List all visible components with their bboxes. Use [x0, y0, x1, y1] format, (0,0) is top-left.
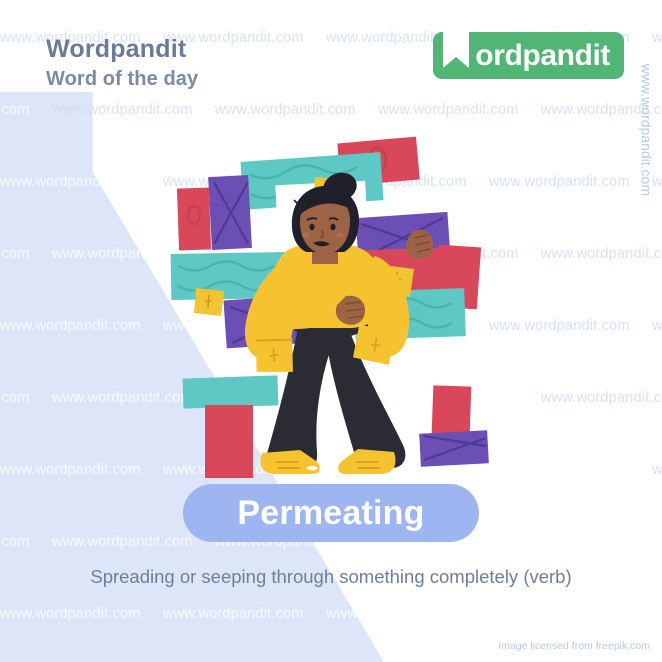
word-definition: Spreading or seeping through something c…	[0, 566, 662, 588]
image-credit: Image licensed from freepik.com	[498, 640, 650, 652]
bookmark-w-icon	[443, 26, 469, 68]
brand-block: Wordpandit Word of the day	[46, 36, 198, 92]
brand-title: Wordpandit	[46, 36, 198, 64]
word-text: Permeating	[237, 494, 424, 533]
wordpandit-logo[interactable]: ordpandit	[433, 32, 624, 79]
word-of-the-day-card: www.wordpandit.comwww.wordpandit.comwww.…	[0, 0, 662, 662]
watermark-vertical: www.wordpandit.com	[638, 64, 654, 196]
logo-text: ordpandit	[475, 41, 610, 71]
word-of-the-day-pill: Permeating	[183, 484, 479, 542]
brand-subtitle: Word of the day	[46, 67, 198, 92]
